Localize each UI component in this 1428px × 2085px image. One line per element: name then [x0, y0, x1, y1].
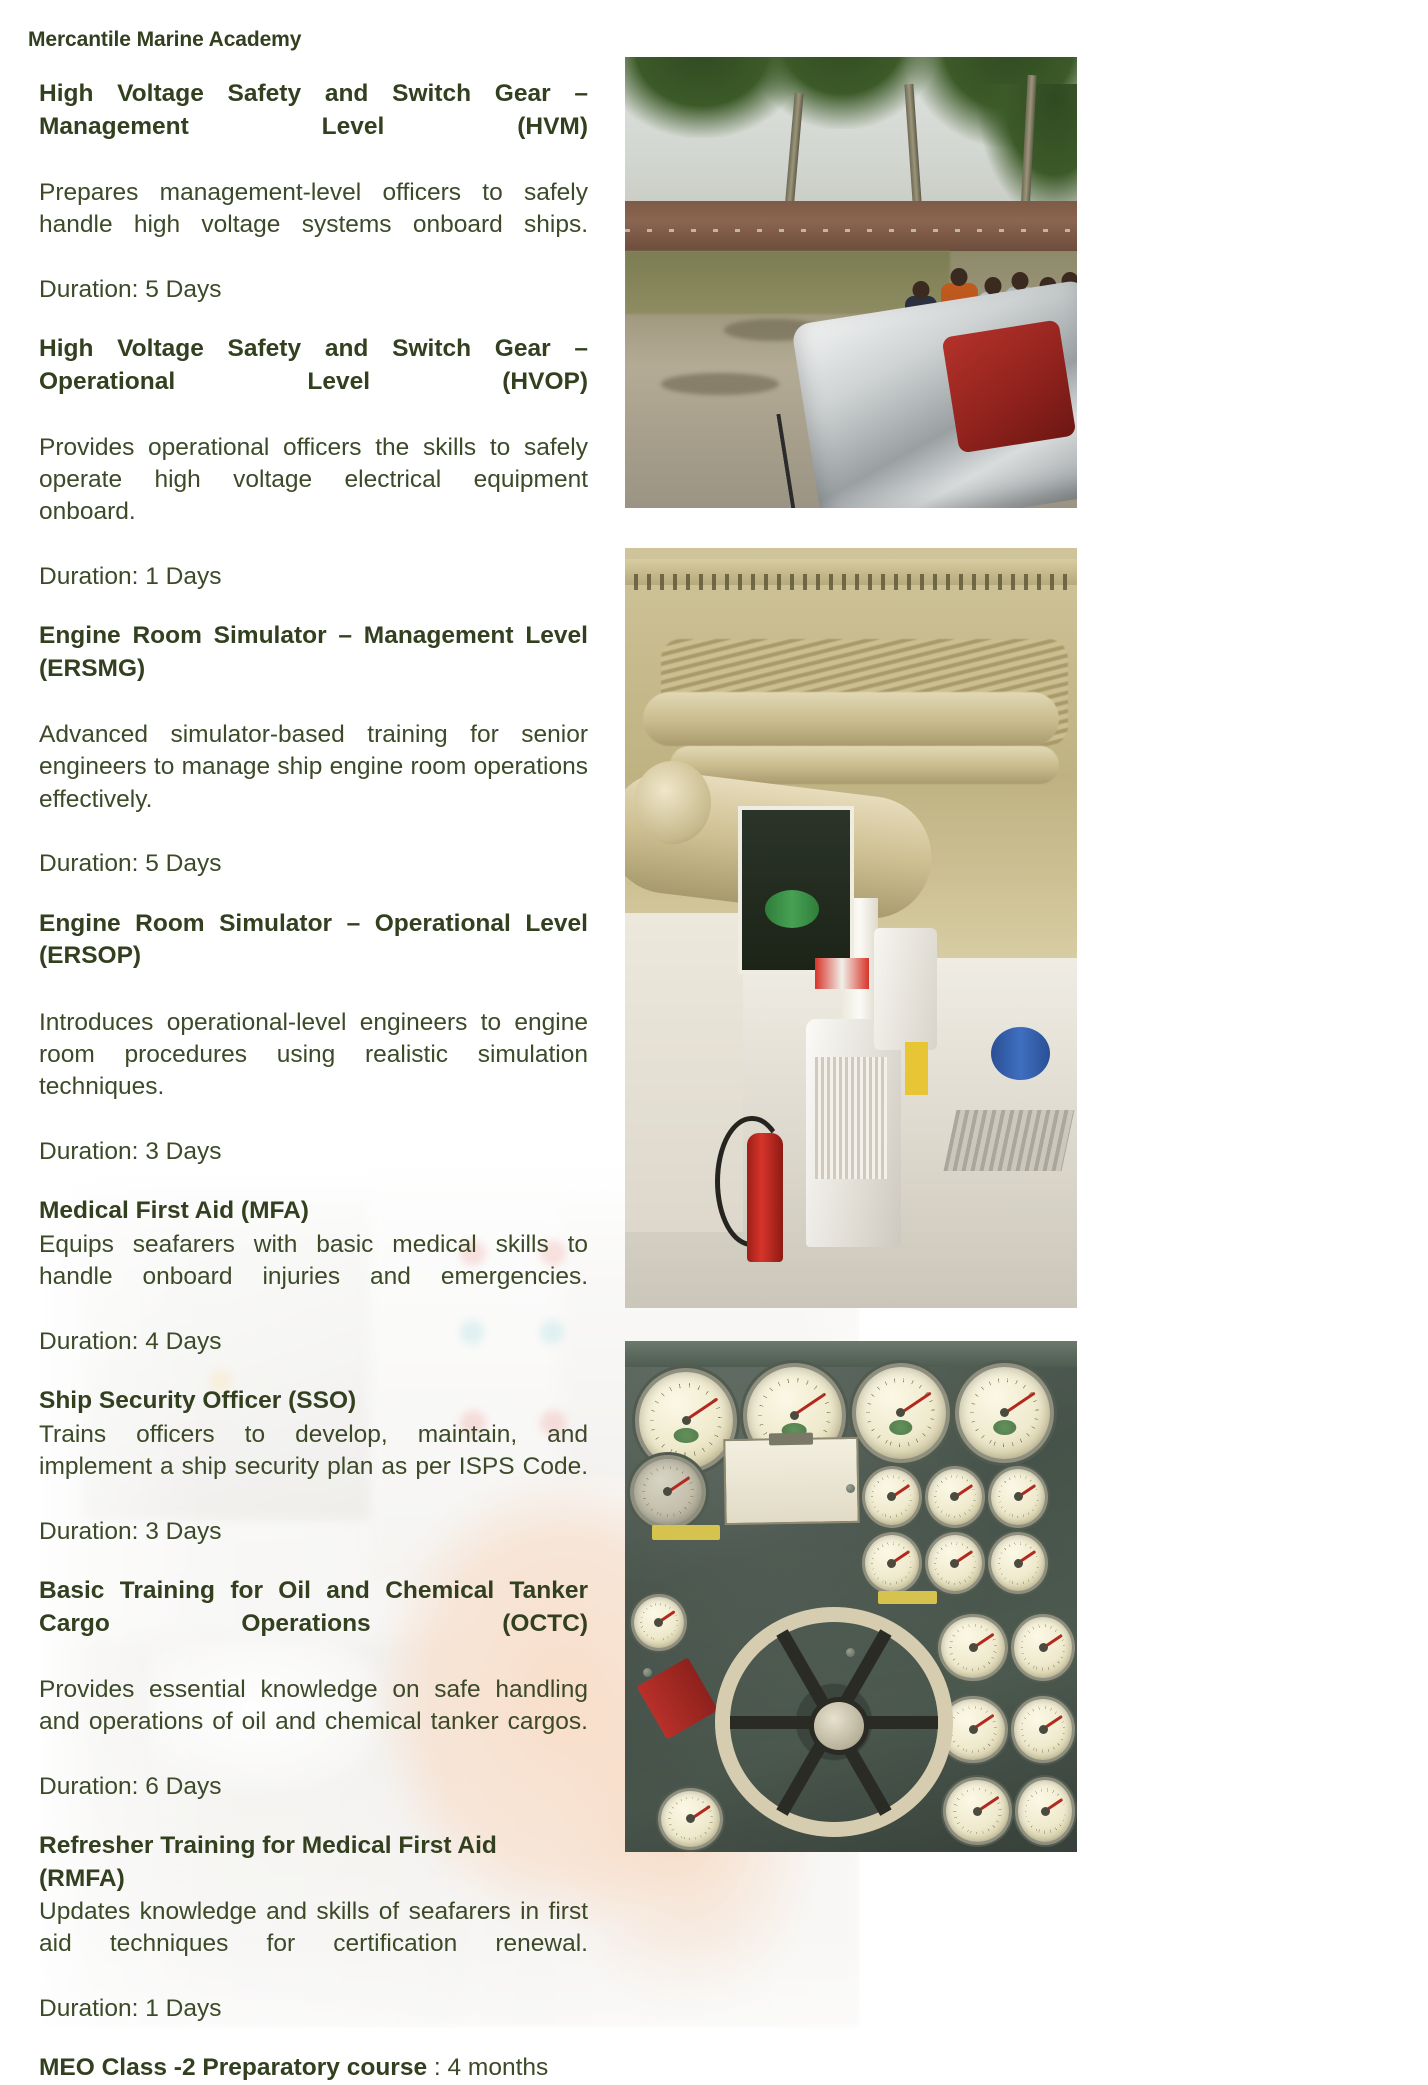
gauge-ticks	[642, 1466, 694, 1516]
valve-hand-wheel	[715, 1607, 953, 1836]
photo-grass	[625, 251, 950, 314]
photo-engineroom	[625, 548, 1077, 1308]
gauge-ticks	[998, 1475, 1039, 1518]
small-gauge	[928, 1535, 982, 1591]
gauge-ticks	[1021, 1706, 1066, 1753]
photo-column	[0, 0, 1428, 2028]
secondary-motor	[874, 928, 937, 1050]
fire-extinguisher	[747, 1133, 783, 1262]
small-gauge	[991, 1469, 1045, 1525]
boundary-wall	[625, 201, 1077, 251]
gauge-ticks	[650, 1383, 722, 1457]
floor-grating	[944, 1110, 1074, 1171]
small-gauge	[661, 1791, 720, 1847]
gauge-ticks	[953, 1788, 1001, 1835]
gauge-logo	[993, 1420, 1017, 1435]
small-gauge	[865, 1535, 919, 1591]
gauge-ticks	[1025, 1788, 1066, 1835]
wheel-hub	[809, 1697, 869, 1755]
pump-cooling-fins	[815, 1057, 887, 1179]
gauge-ticks	[871, 1475, 912, 1518]
gauge-ticks	[934, 1542, 975, 1585]
gauge-ticks	[949, 1624, 997, 1671]
gauge-ticks	[668, 1797, 713, 1840]
small-gauge	[928, 1469, 982, 1525]
gauge-ticks	[949, 1706, 997, 1753]
green-valve-wheel	[765, 890, 819, 928]
ground-mound	[661, 373, 779, 396]
overhead-duct	[643, 692, 1059, 745]
meo-class-2-preparatory-line: MEO Class -2 Preparatory course : 4 mont…	[39, 2052, 588, 2084]
gauge-logo	[674, 1428, 699, 1444]
gauge-ticks	[970, 1378, 1039, 1448]
perforated-tray	[634, 574, 1068, 590]
yellow-warning-tag	[905, 1042, 928, 1095]
blue-valve-wheel	[991, 1027, 1050, 1080]
small-gauge	[1018, 1780, 1072, 1841]
gauge-ticks	[1021, 1624, 1066, 1671]
yellow-label	[652, 1525, 720, 1540]
pressure-gauge	[959, 1367, 1049, 1459]
photo-trainees	[625, 57, 1077, 508]
pressure-gauge	[856, 1367, 946, 1459]
pipe-flange	[634, 761, 711, 845]
gauge-ticks	[998, 1542, 1039, 1585]
yellow-label	[878, 1591, 937, 1604]
clipboard	[724, 1437, 861, 1525]
small-gauge	[634, 1459, 702, 1525]
gauge-logo	[889, 1420, 913, 1435]
small-gauge	[634, 1597, 684, 1648]
gauge-ticks	[640, 1603, 678, 1642]
small-gauge	[1014, 1699, 1073, 1760]
meo-label: MEO Class -2 Preparatory course	[39, 2054, 427, 2081]
meo-value: : 4 months	[427, 2054, 548, 2081]
photo-gauges	[625, 1341, 1077, 1852]
red-white-sign	[815, 958, 869, 988]
gauge-ticks	[871, 1542, 912, 1585]
pressure-gauge	[639, 1372, 734, 1469]
small-gauge	[941, 1617, 1004, 1678]
small-gauge	[865, 1469, 919, 1525]
panel-top-strip	[625, 1341, 1077, 1367]
red-engine	[942, 319, 1076, 453]
gauge-ticks	[866, 1378, 935, 1448]
small-gauge	[946, 1780, 1009, 1841]
gauge-ticks	[934, 1475, 975, 1518]
